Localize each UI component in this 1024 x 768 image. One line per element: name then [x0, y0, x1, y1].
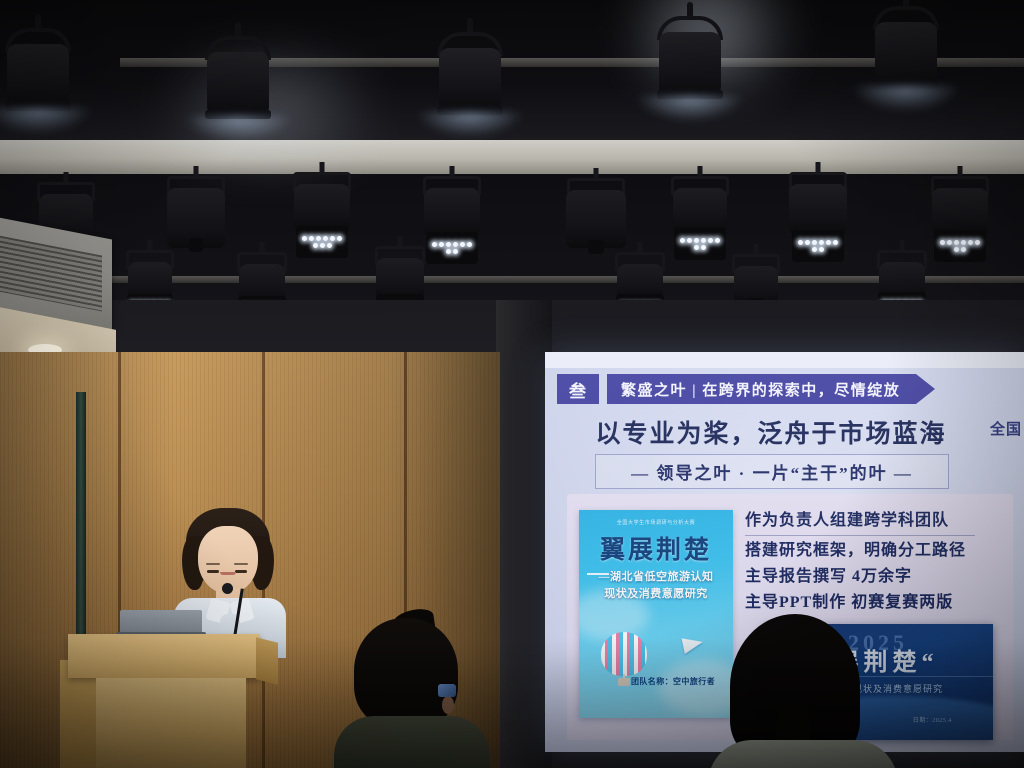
poster-title: 翼展荆楚 [579, 530, 733, 566]
audience-member-foreground-right [714, 614, 884, 768]
bullet-item: 主导报告撰写 4万余字 [745, 564, 1015, 590]
podium-bevel [256, 637, 278, 684]
slide-corner-text: 全国 [990, 418, 1022, 439]
audience-ear [442, 696, 454, 714]
presentation-hall-photo: 叁 繁盛之叶 | 在跨界的探索中，尽情绽放 以专业为桨，泛舟于市场蓝海 全国 —… [0, 0, 1024, 768]
poster-top-line: 全国大学生市场调研与分析大赛 [579, 519, 733, 526]
wall-gap-dark [496, 300, 552, 768]
poster-subtitle-line1: —湖北省低空旅游认知 [585, 570, 727, 585]
paper-plane-icon [682, 634, 705, 654]
section-number: 叁 [557, 374, 599, 404]
audience-shoulders [334, 716, 490, 768]
wooden-podium [68, 634, 260, 678]
bullet-item: 作为负责人组建跨学科团队 [745, 508, 1015, 534]
poster-subtitle-line2: 现状及消费意愿研究 [585, 587, 727, 602]
bullet-item: 搭建研究框架，明确分工路径 [745, 538, 1015, 564]
audience-shoulders [708, 740, 898, 768]
competition-poster: 全国大学生市场调研与分析大赛 翼展荆楚 —湖北省低空旅游认知 现状及消费意愿研究… [579, 510, 733, 718]
audience-member-foreground-left [346, 618, 476, 768]
cover-footer-right: 日期：2025.4 [913, 715, 952, 724]
slide-headline: 以专业为桨，泛舟于市场蓝海 [591, 414, 951, 450]
slide-subtitle: — 领导之叶 · 一片“主干”的叶 — [595, 454, 949, 489]
section-title: 繁盛之叶 | 在跨界的探索中，尽情绽放 [607, 374, 916, 404]
bullet-item: 主导PPT制作 初赛复赛两版 [745, 590, 1015, 616]
microphone-capsule [222, 583, 233, 594]
podium-front-panel [96, 678, 246, 768]
presenter-mouth [220, 572, 236, 575]
ceiling [0, 0, 1024, 330]
bullet-divider [745, 535, 975, 536]
slide-top-strip [545, 352, 1024, 368]
slide-bullet-list: 作为负责人组建跨学科团队 搭建研究框架，明确分工路径 主导报告撰写 4万余字 主… [745, 508, 1015, 616]
audience-hair [354, 618, 458, 728]
eyeglasses-icon [438, 684, 456, 697]
slide-section-banner: 叁 繁盛之叶 | 在跨界的探索中，尽情绽放 [557, 374, 916, 404]
air-vent-grille [0, 235, 102, 311]
